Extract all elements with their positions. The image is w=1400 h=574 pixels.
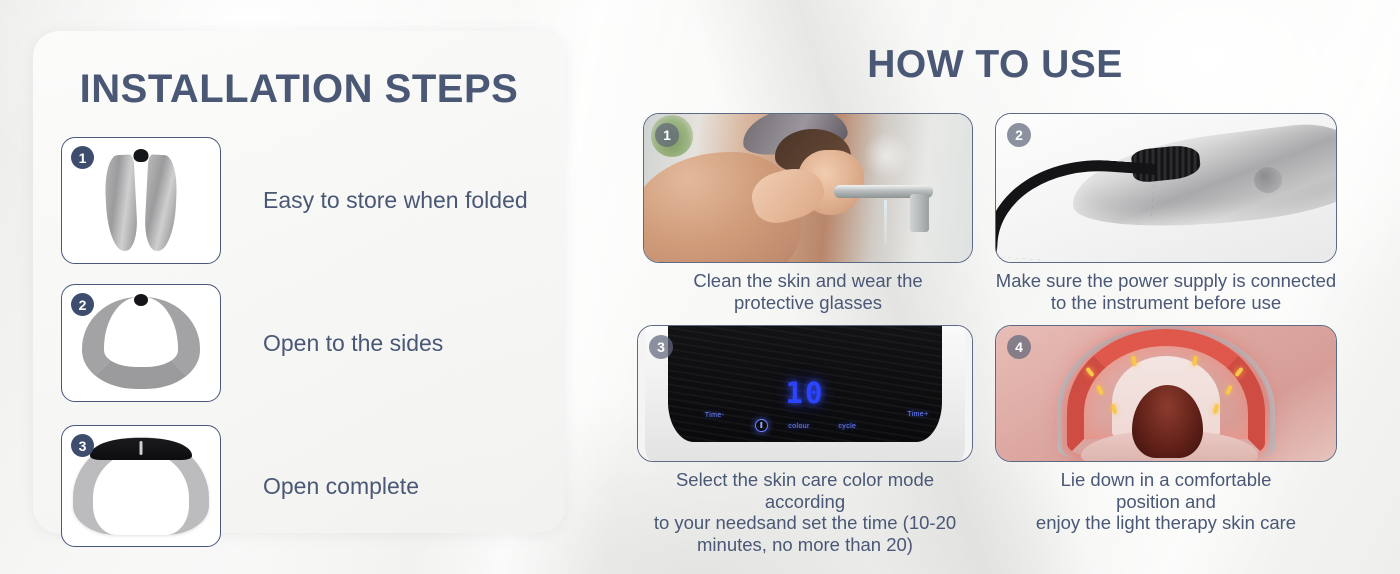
how-to-use-panel-4: 4 Lie down in a comfortable position and… [995,325,1337,534]
device-visor [90,438,192,460]
device-fully-open-photo: 3 [61,425,221,547]
power-icon[interactable] [755,419,768,432]
installation-step-label-3: Open complete [263,473,419,500]
panel-number-badge-2: 2 [1007,123,1031,147]
device-knob [134,149,149,162]
installation-steps-card: INSTALLATION STEPS 1 Easy to store when … [33,31,565,533]
device-lobe-left [104,154,139,251]
red-light-therapy-photo: 4 [995,325,1337,462]
installation-step-3: 3 Open complete [61,425,419,547]
installation-steps-title: INSTALLATION STEPS [33,67,565,112]
installation-step-2: 2 Open to the sides [61,284,443,402]
panel-number-badge-4: 4 [1007,335,1031,359]
device-lobe-right [144,154,179,251]
how-to-use-caption-3: Select the skin care color mode accordin… [637,469,973,556]
device-folded-photo: 1 [61,137,221,264]
installation-step-label-1: Easy to store when folded [263,187,528,214]
time-plus-button[interactable]: Time+ [907,411,928,418]
device-illustration-folded [102,149,180,253]
step-number-badge-1: 1 [71,146,94,169]
panel-number-badge-3: 3 [649,335,673,359]
device-band [82,297,200,389]
colour-button[interactable]: colour [788,423,809,430]
power-cable [995,153,1156,263]
how-to-use-title: HOW TO USE [640,43,1350,87]
photo-illustration [996,326,1336,461]
woman-washing-face-photo: 1 [643,113,973,263]
photo-illustration [644,114,972,262]
how-to-use-panel-3: 10 Time- colour cycle Time+ 3 Select the… [637,325,973,556]
how-to-use-panel-2: 2 Make sure the power supply is connecte… [995,113,1337,313]
photo-illustration [996,114,1336,262]
device-knob [134,294,148,306]
timer-display: 10 [786,376,825,410]
installation-step-1: 1 Easy to store when folded [61,137,528,264]
cycle-button[interactable]: cycle [838,423,856,430]
how-to-use-caption-2: Make sure the power supply is connected … [995,270,1337,313]
water-stream [884,200,887,244]
installation-step-label-2: Open to the sides [263,330,443,357]
power-connector-photo: 2 [995,113,1337,263]
photo-illustration: 10 Time- colour cycle Time+ [638,326,972,461]
how-to-use-caption-4: Lie down in a comfortable position and e… [995,469,1337,534]
how-to-use-panel-1: 1 Clean the skin and wear the protective… [643,113,973,313]
step-number-badge-2: 2 [71,293,94,316]
device-illustration-open-complete [73,437,209,535]
device-u-open-photo: 2 [61,284,221,402]
time-minus-button[interactable]: Time- [705,412,725,419]
faucet-stem [910,194,930,232]
device-illustration-u-open [82,297,200,389]
panel-number-badge-1: 1 [655,123,679,147]
step-number-badge-3: 3 [71,434,94,457]
how-to-use-caption-1: Clean the skin and wear the protective g… [643,270,973,313]
controller-display-photo: 10 Time- colour cycle Time+ 3 [637,325,973,462]
